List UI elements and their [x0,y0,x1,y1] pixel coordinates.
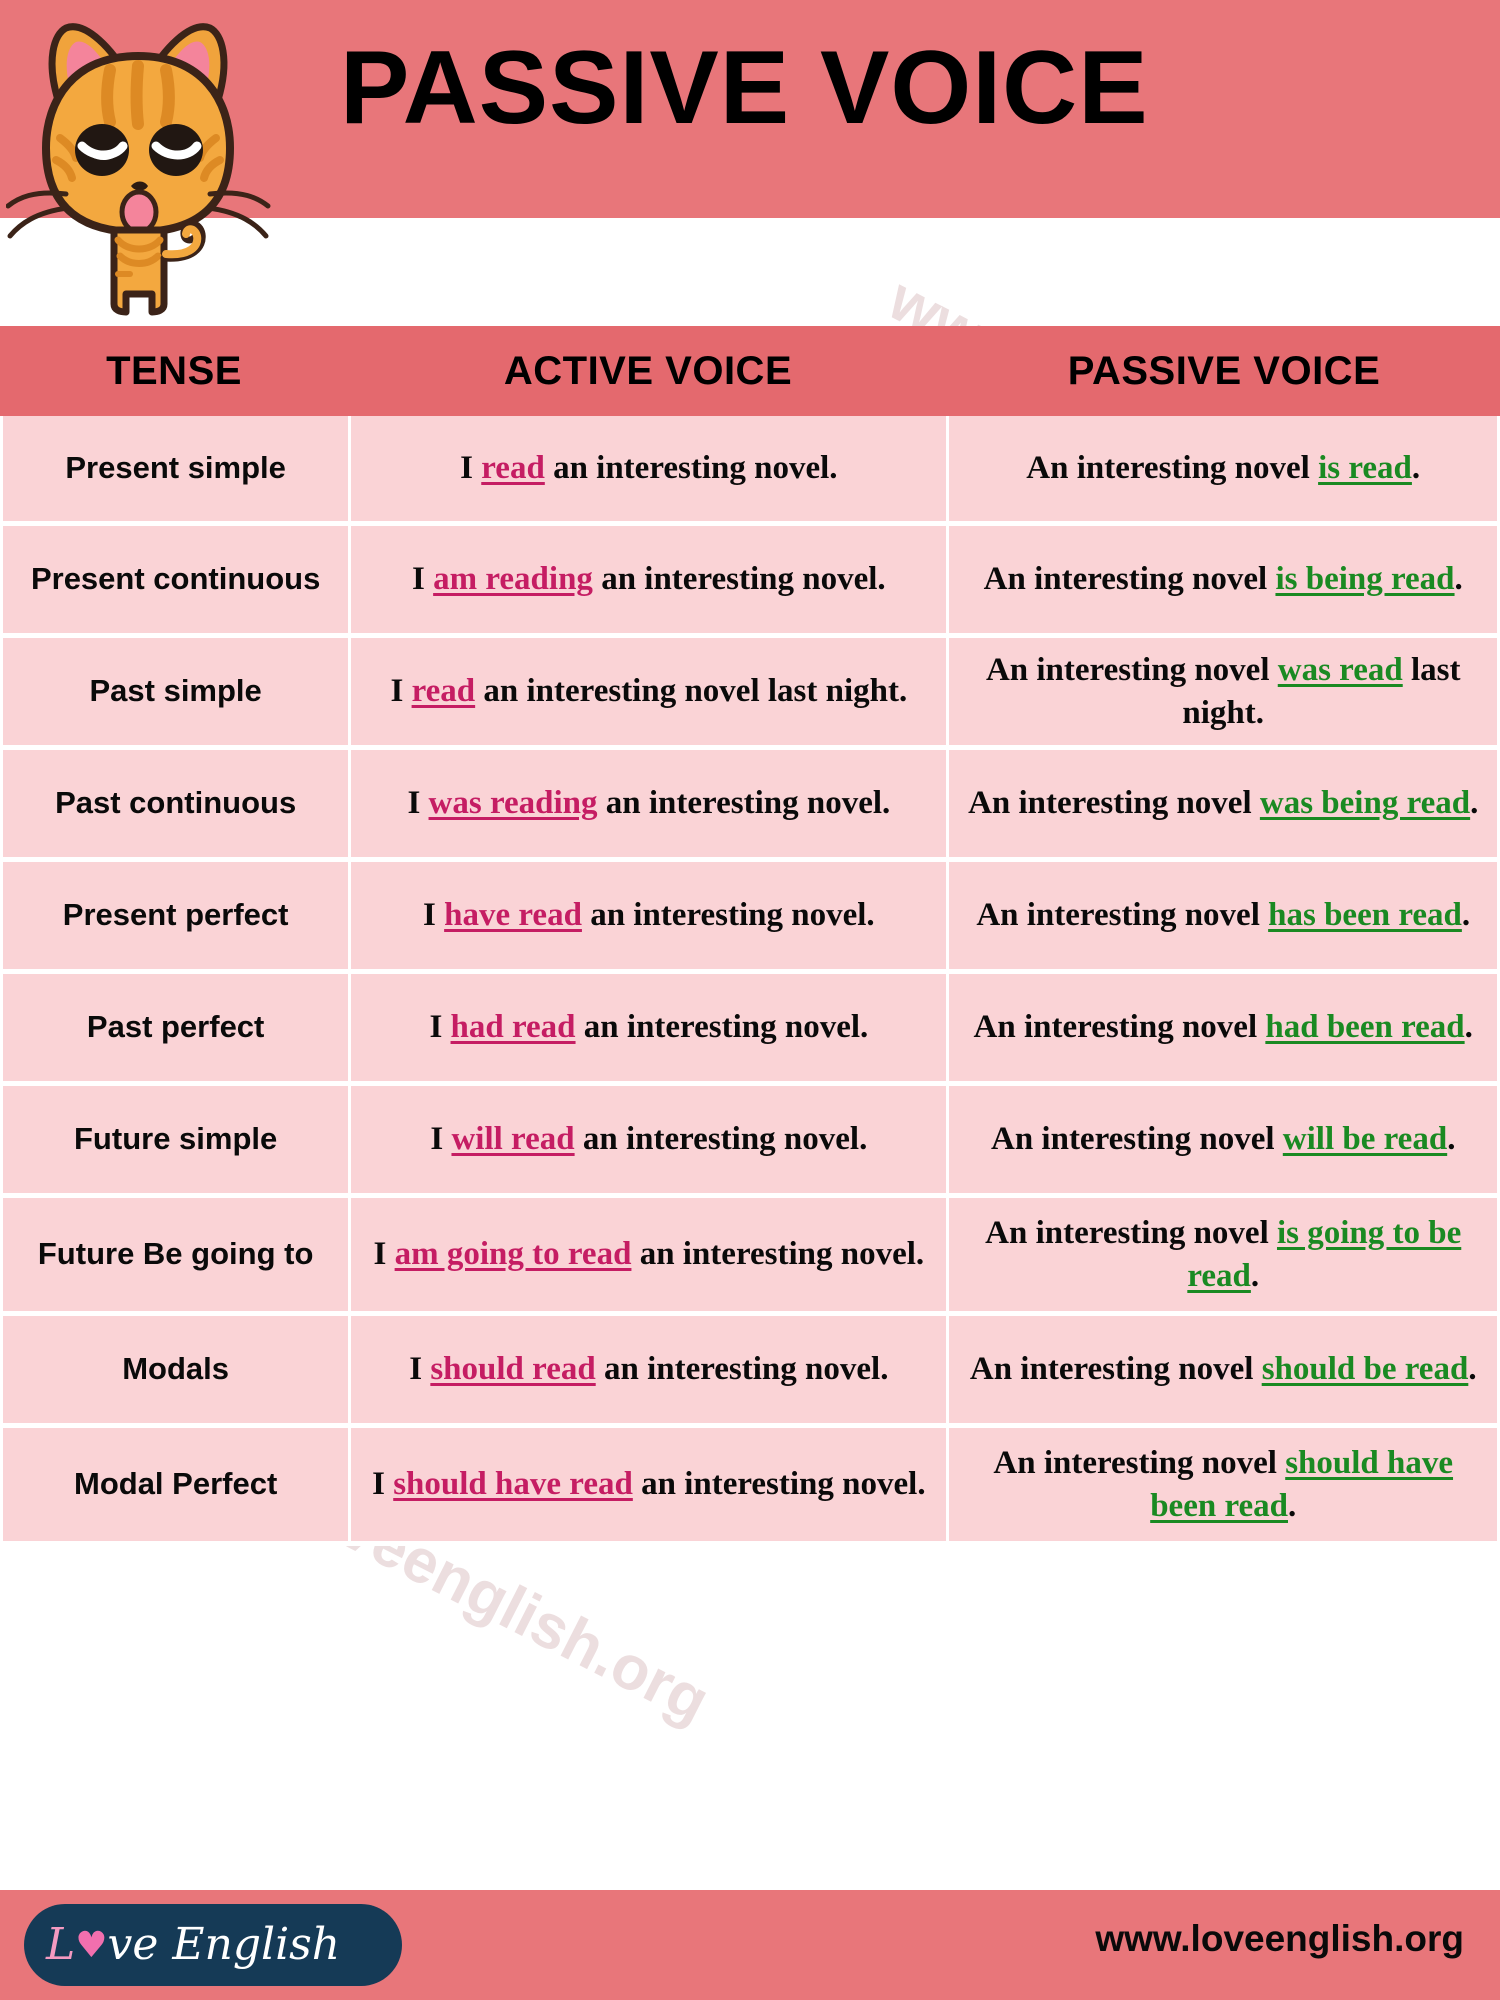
active-verb-highlight: was reading [429,785,598,821]
passive-verb-highlight: should be read [1262,1351,1469,1387]
cell-passive-voice: An interesting novel was read last night… [949,638,1497,745]
active-verb-highlight: am reading [433,561,593,597]
passive-verb-highlight: was being read [1260,785,1470,821]
passive-verb-highlight: should have been read [1150,1445,1453,1524]
passive-voice-table: TENSE ACTIVE VOICE PASSIVE VOICE Present… [0,326,1500,1546]
cell-tense: Present perfect [3,862,348,969]
cat-mascot-icon [6,8,276,318]
cell-passive-voice: An interesting novel is going to be read… [949,1198,1497,1311]
cell-tense: Past continuous [3,750,348,857]
cell-active-voice: I am going to read an interesting novel. [351,1198,946,1311]
cell-passive-voice: An interesting novel had been read. [949,974,1497,1081]
logo-text: L♥ve English [46,1923,340,1967]
cell-passive-voice: An interesting novel should have been re… [949,1428,1497,1541]
table-row: Modal PerfectI should have read an inter… [0,1428,1500,1546]
table-body: Present simpleI read an interesting nove… [0,416,1500,1546]
heart-icon: ♥ [75,1928,107,1964]
cell-tense: Past simple [3,638,348,745]
column-header-tense: TENSE [0,326,348,416]
cell-tense: Future Be going to [3,1198,348,1311]
cell-tense: Present continuous [3,526,348,633]
passive-verb-highlight: is being read [1275,561,1454,597]
page-title: PASSIVE VOICE [340,36,1460,140]
cell-active-voice: I read an interesting novel last night. [351,638,946,745]
active-verb-highlight: have read [444,897,582,933]
cell-active-voice: I have read an interesting novel. [351,862,946,969]
cell-passive-voice: An interesting novel is read. [949,416,1497,521]
cell-active-voice: I had read an interesting novel. [351,974,946,1081]
table-row: Present perfectI have read an interestin… [0,862,1500,974]
passive-verb-highlight: was read [1278,652,1403,688]
active-verb-highlight: will read [451,1121,574,1157]
table-row: ModalsI should read an interesting novel… [0,1316,1500,1428]
cell-tense: Modal Perfect [3,1428,348,1541]
active-verb-highlight: had read [451,1009,576,1045]
table-header-row: TENSE ACTIVE VOICE PASSIVE VOICE [0,326,1500,416]
column-header-active-voice: ACTIVE VOICE [348,326,948,416]
passive-verb-highlight: had been read [1265,1009,1464,1045]
cell-passive-voice: An interesting novel should be read. [949,1316,1497,1423]
cell-passive-voice: An interesting novel was being read. [949,750,1497,857]
cell-tense: Present simple [3,416,348,521]
cell-passive-voice: An interesting novel will be read. [949,1086,1497,1193]
active-verb-highlight: read [481,450,545,486]
cell-passive-voice: An interesting novel is being read. [949,526,1497,633]
footer-band: L♥ve English www.loveenglish.org [0,1890,1500,2000]
cell-active-voice: I should have read an interesting novel. [351,1428,946,1541]
table-row: Present continuousI am reading an intere… [0,526,1500,638]
active-verb-highlight: should have read [393,1466,633,1502]
love-english-logo[interactable]: L♥ve English [24,1904,402,1986]
cell-active-voice: I read an interesting novel. [351,416,946,521]
active-verb-highlight: read [412,673,476,709]
cell-active-voice: I am reading an interesting novel. [351,526,946,633]
cell-active-voice: I was reading an interesting novel. [351,750,946,857]
cell-tense: Past perfect [3,974,348,1081]
passive-verb-highlight: is going to be read [1187,1215,1461,1294]
footer-url[interactable]: www.loveenglish.org [1095,1918,1464,1960]
cell-tense: Modals [3,1316,348,1423]
poster-root: PASSIVE VOICE [0,0,1500,2000]
passive-verb-highlight: is read [1318,450,1412,486]
cell-passive-voice: An interesting novel has been read. [949,862,1497,969]
table-row: Present simpleI read an interesting nove… [0,416,1500,526]
column-header-passive-voice: PASSIVE VOICE [948,326,1500,416]
active-verb-highlight: should read [430,1351,595,1387]
table-row: Past perfectI had read an interesting no… [0,974,1500,1086]
active-verb-highlight: am going to read [395,1236,632,1272]
passive-verb-highlight: will be read [1283,1121,1447,1157]
passive-verb-highlight: has been read [1268,897,1462,933]
cell-active-voice: I will read an interesting novel. [351,1086,946,1193]
table-row: Future Be going toI am going to read an … [0,1198,1500,1316]
cell-active-voice: I should read an interesting novel. [351,1316,946,1423]
cell-tense: Future simple [3,1086,348,1193]
table-row: Past simpleI read an interesting novel l… [0,638,1500,750]
logo-letter-l: L [46,1919,75,1970]
table-row: Past continuousI was reading an interest… [0,750,1500,862]
logo-rest: ve English [108,1919,341,1970]
table-row: Future simpleI will read an interesting … [0,1086,1500,1198]
